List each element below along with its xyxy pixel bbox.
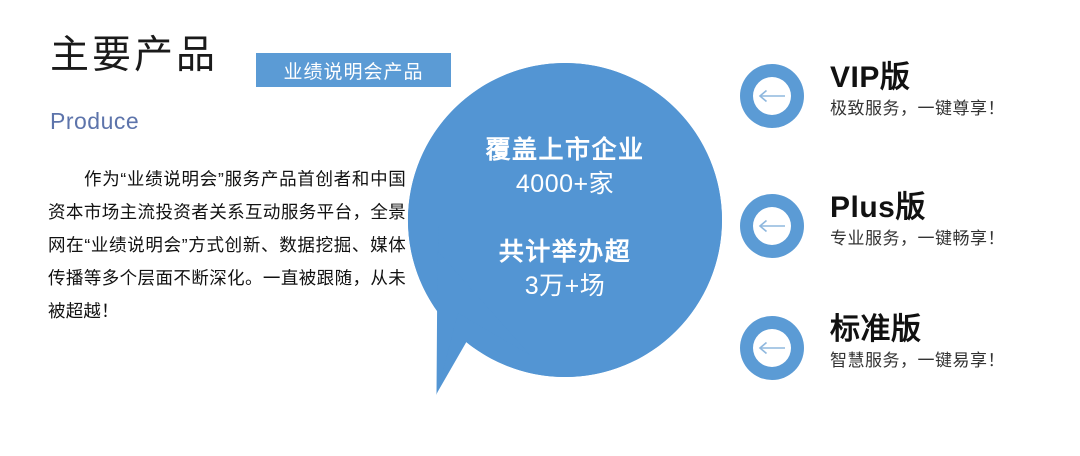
plan-description: 专业服务，一键畅享！ <box>830 226 1080 252</box>
plan-title: VIP版 <box>830 60 1080 96</box>
circle-arrow-left-icon[interactable] <box>738 192 806 260</box>
left-content-column: 主要产品 业绩说明会产品 Produce 作为“业绩说明会”服务产品首创者和中国… <box>0 0 430 456</box>
plan-description: 智慧服务，一键易享！ <box>830 348 1080 374</box>
plan-text-group: VIP版 极致服务，一键尊享！ <box>830 60 1080 122</box>
slide-canvas: 主要产品 业绩说明会产品 Produce 作为“业绩说明会”服务产品首创者和中国… <box>0 0 1080 456</box>
plans-list: VIP版 极致服务，一键尊享！ Plus版 专业服务，一键畅享！ <box>730 0 1080 456</box>
plan-text-group: 标准版 智慧服务，一键易享！ <box>830 312 1080 374</box>
plan-title: Plus版 <box>830 190 1080 226</box>
stats-speech-bubble: 覆盖上市企业 4000+家 共计举办超 3万+场 <box>400 55 730 410</box>
page-title: 主要产品 <box>50 36 218 75</box>
circle-arrow-left-icon[interactable] <box>738 314 806 382</box>
body-paragraph: 作为“业绩说明会”服务产品首创者和中国资本市场主流投资者关系互动服务平台，全景网… <box>48 163 406 328</box>
plan-item-vip[interactable]: VIP版 极致服务，一键尊享！ <box>730 62 1080 154</box>
plan-text-group: Plus版 专业服务，一键畅享！ <box>830 190 1080 252</box>
plan-description: 极致服务，一键尊享！ <box>830 96 1080 122</box>
plan-item-plus[interactable]: Plus版 专业服务，一键畅享！ <box>730 192 1080 284</box>
subtitle-english: Produce <box>50 108 139 135</box>
plan-item-standard[interactable]: 标准版 智慧服务，一键易享！ <box>730 314 1080 406</box>
plan-title: 标准版 <box>830 312 1080 348</box>
circle-arrow-left-icon[interactable] <box>738 62 806 130</box>
speech-bubble-shape <box>400 55 730 410</box>
